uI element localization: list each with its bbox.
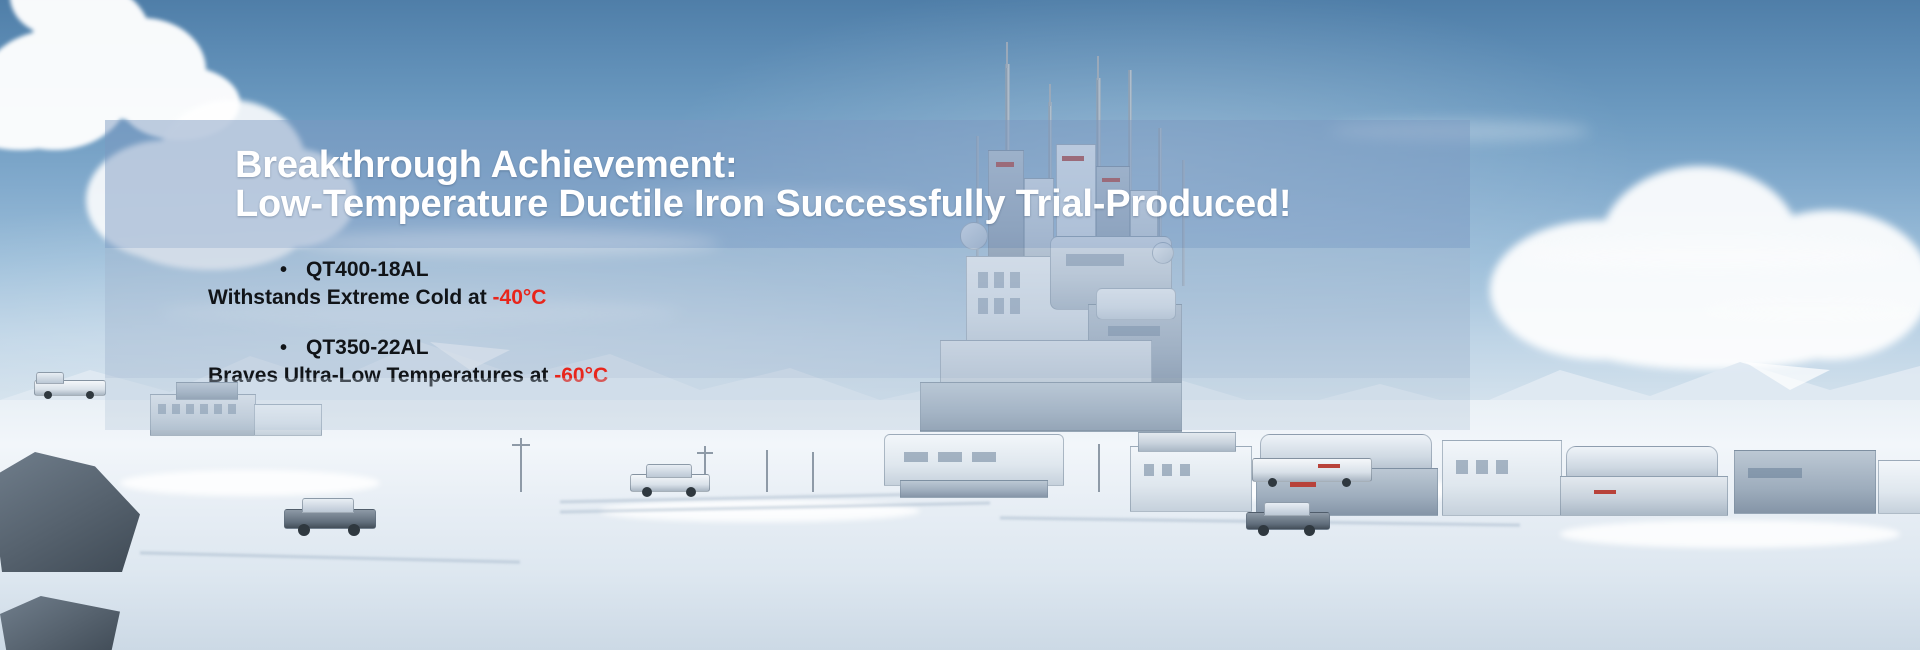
antenna-tip xyxy=(1097,56,1099,80)
material-grade-label: QT350-22AL xyxy=(306,336,429,360)
bullet-icon: • xyxy=(280,338,306,358)
vehicle-suv-foreground xyxy=(284,496,376,532)
page-title-line-1: Breakthrough Achievement: xyxy=(105,146,1470,185)
utility-pole xyxy=(766,450,768,492)
facility-base xyxy=(900,480,1048,498)
window-strip xyxy=(972,452,996,462)
window-strip xyxy=(904,452,928,462)
window xyxy=(1144,464,1154,476)
vehicle-trailer-right xyxy=(1252,452,1372,486)
facility-block xyxy=(1560,476,1728,516)
facility-block xyxy=(1734,450,1876,514)
banner-overlay: Breakthrough Achievement: Low-Temperatur… xyxy=(105,120,1470,430)
center-shed xyxy=(884,426,1064,498)
window xyxy=(1456,460,1468,474)
snow-drift xyxy=(120,470,380,496)
facility-block xyxy=(1442,440,1562,516)
temperature-value: -40°C xyxy=(493,286,547,309)
vehicle-car-right xyxy=(1246,500,1330,532)
antenna-tip xyxy=(1006,42,1008,68)
utility-pole xyxy=(812,452,814,492)
material-grade-label: QT400-18AL xyxy=(306,258,429,282)
window xyxy=(1180,464,1190,476)
feature-heading: • QT400-18AL xyxy=(280,258,1470,282)
window-strip xyxy=(938,452,962,462)
utility-pole xyxy=(520,438,522,492)
body-panel: • QT400-18AL Withstands Extreme Cold at … xyxy=(105,248,1470,378)
pole-crossarm xyxy=(512,444,530,446)
feature-description: Withstands Extreme Cold at -40°C xyxy=(208,286,1470,310)
utility-pole xyxy=(1098,444,1100,492)
footer-panel xyxy=(105,378,1470,430)
facility-block xyxy=(1130,446,1252,512)
antenna-tip xyxy=(1049,84,1051,106)
window xyxy=(1162,464,1172,476)
bullet-icon: • xyxy=(280,260,306,280)
vehicle-truck-left xyxy=(34,370,106,398)
page-title-line-2: Low-Temperature Ductile Iron Successfull… xyxy=(105,185,1470,224)
vehicle-suv-center xyxy=(630,462,710,494)
feature-heading: • QT350-22AL xyxy=(280,336,1470,360)
window xyxy=(1476,460,1488,474)
warning-stripe xyxy=(1594,490,1616,494)
banner-screenshot: Breakthrough Achievement: Low-Temperatur… xyxy=(0,0,1920,650)
facility-block xyxy=(1878,460,1920,514)
cloud-wisp xyxy=(1700,300,1920,318)
window xyxy=(1496,460,1508,474)
feature-description-text: Withstands Extreme Cold at xyxy=(208,286,493,309)
facility-roof xyxy=(1138,432,1236,452)
window-strip xyxy=(1748,468,1802,478)
title-panel: Breakthrough Achievement: Low-Temperatur… xyxy=(105,120,1470,248)
pole-crossarm xyxy=(697,452,713,454)
feature-item: • QT400-18AL Withstands Extreme Cold at … xyxy=(105,258,1470,310)
